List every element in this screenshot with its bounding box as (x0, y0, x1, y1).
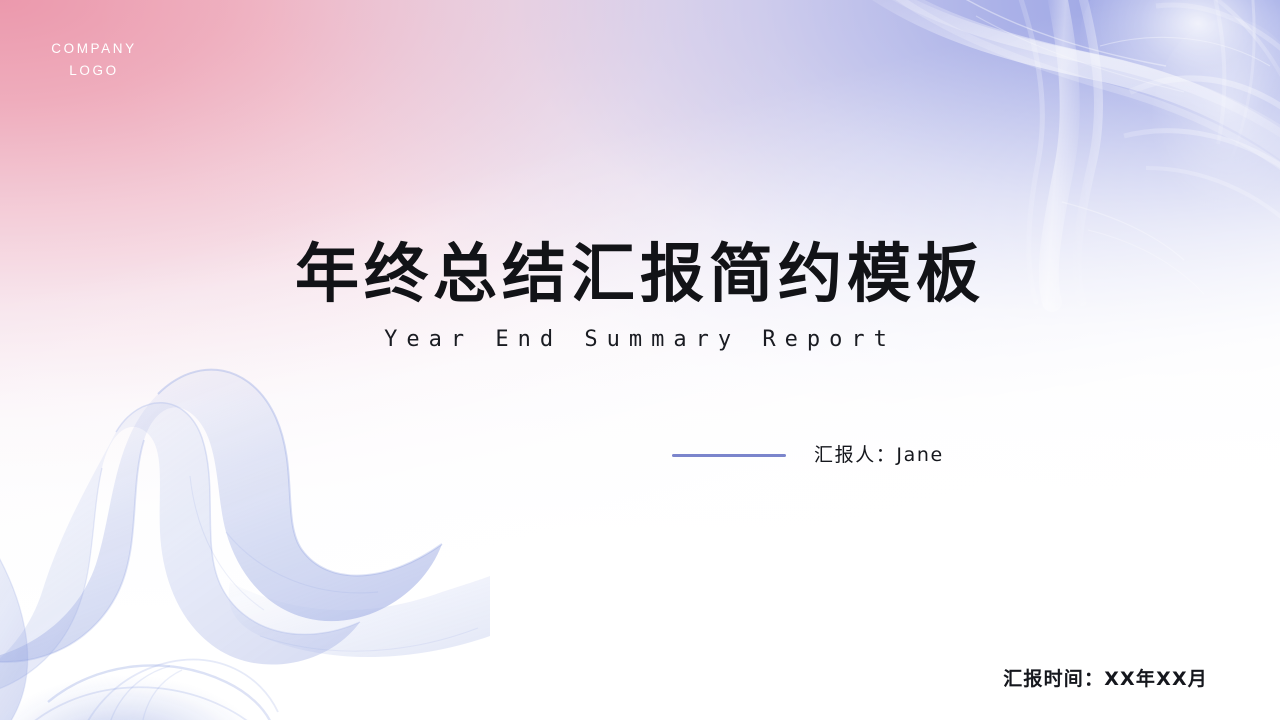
presenter-line: 汇报人：Jane (672, 442, 944, 468)
presenter-name: 汇报人：Jane (814, 442, 944, 468)
title-block: 年终总结汇报简约模板 Year End Summary Report (0, 236, 1280, 354)
page-subtitle: Year End Summary Report (0, 326, 1280, 354)
page-title: 年终总结汇报简约模板 (0, 236, 1280, 314)
report-date: 汇报时间：XX年XX月 (1003, 666, 1208, 692)
background-gradient (0, 0, 1280, 720)
divider-rule (672, 454, 786, 457)
company-logo-line2: LOGO (38, 60, 150, 82)
company-logo: COMPANY LOGO (38, 38, 150, 82)
presentation-slide: COMPANY LOGO 年终总结汇报简约模板 Year End Summary… (0, 0, 1280, 720)
company-logo-line1: COMPANY (38, 38, 150, 60)
